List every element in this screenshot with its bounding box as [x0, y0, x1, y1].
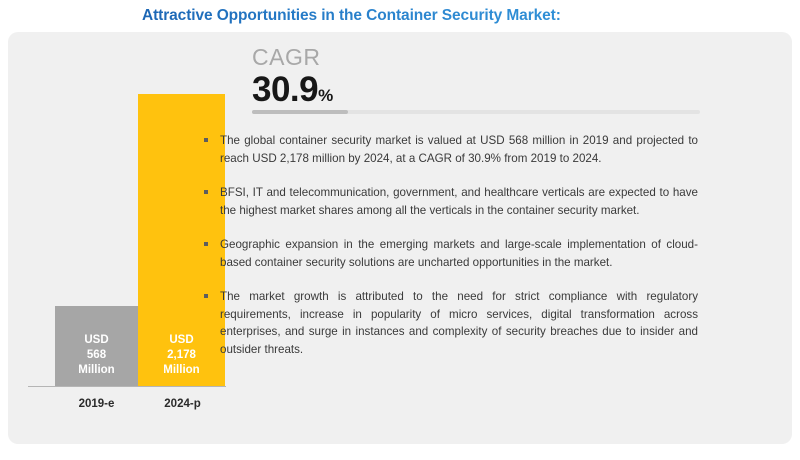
- bar-2019-e-label-line2: 568: [55, 348, 138, 363]
- list-item: The market growth is attributed to the n…: [198, 288, 698, 358]
- bullet-square-icon: [204, 190, 208, 194]
- list-item: The global container security market is …: [198, 132, 698, 167]
- x-axis-line: [28, 386, 226, 387]
- cagr-underline: [252, 110, 700, 114]
- page-title: Attractive Opportunities in the Containe…: [142, 7, 561, 25]
- bar-2019-e: USD 568 Million: [55, 306, 138, 386]
- x-tick-2019-e: 2019-e: [50, 398, 143, 410]
- bar-2019-e-label-line3: Million: [55, 363, 138, 378]
- bar-2019-e-label-line1: USD: [55, 333, 138, 348]
- cagr-value: 30.9: [252, 70, 318, 109]
- highlights-list: The global container security market is …: [198, 132, 698, 358]
- list-item: Geographic expansion in the emerging mar…: [198, 236, 698, 271]
- list-item-text: BFSI, IT and telecommunication, governme…: [220, 186, 698, 217]
- list-item-text: The market growth is attributed to the n…: [220, 290, 698, 356]
- list-item: BFSI, IT and telecommunication, governme…: [198, 184, 698, 219]
- infographic-root: Attractive Opportunities in the Containe…: [0, 0, 800, 460]
- bullet-square-icon: [204, 138, 208, 142]
- bar-2019-e-label: USD 568 Million: [55, 333, 138, 378]
- list-item-text: Geographic expansion in the emerging mar…: [220, 238, 698, 269]
- cagr-underline-fill: [252, 110, 348, 114]
- x-tick-2024-p: 2024-p: [136, 398, 229, 410]
- cagr-percent-sign: %: [318, 86, 333, 105]
- cagr-callout: CAGR 30.9%: [252, 44, 333, 116]
- bar-2024-p-label-line3: Million: [138, 363, 225, 378]
- bullet-square-icon: [204, 294, 208, 298]
- cagr-label: CAGR: [252, 44, 333, 70]
- list-item-text: The global container security market is …: [220, 134, 698, 165]
- bullet-square-icon: [204, 242, 208, 246]
